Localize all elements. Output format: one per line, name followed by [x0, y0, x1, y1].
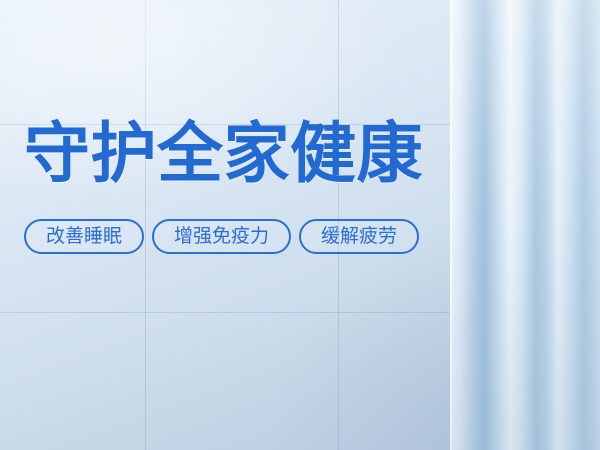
benefit-badge-improve-sleep: 改善睡眠	[24, 219, 144, 254]
headline-text: 守护全家健康	[24, 120, 564, 186]
benefit-badge-relieve-fatigue: 缓解疲劳	[299, 219, 419, 254]
banner-content: 守护全家健康 改善睡眠 增强免疫力 缓解疲劳	[24, 120, 564, 254]
benefit-badge-boost-immunity: 增强免疫力	[152, 219, 291, 254]
promo-banner: 守护全家健康 改善睡眠 增强免疫力 缓解疲劳	[0, 0, 600, 450]
benefit-badge-row: 改善睡眠 增强免疫力 缓解疲劳	[24, 219, 564, 254]
